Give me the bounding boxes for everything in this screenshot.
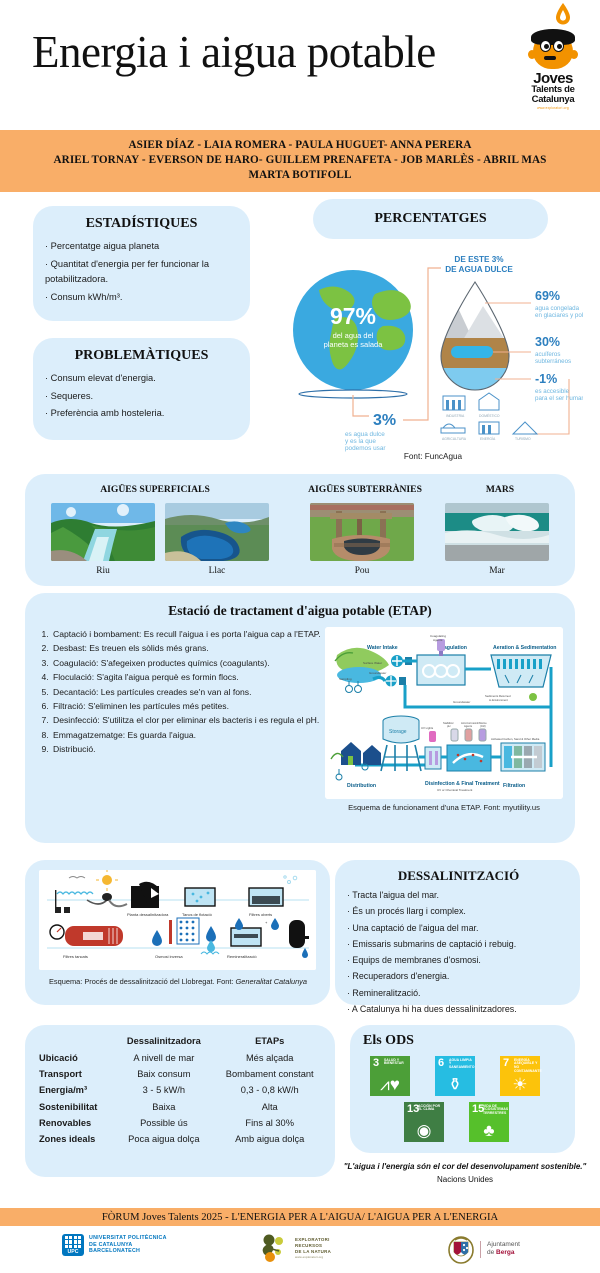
water-sources-panel: AIGÜES SUPERFICIALS AIGÜES SUBTERRÀNIES … bbox=[25, 474, 575, 586]
svg-text:Water Intake: Water Intake bbox=[367, 645, 398, 651]
cell-desal: Poca aigua dolça bbox=[115, 1131, 212, 1147]
upc-line-1: UNIVERSITAT POLITÈCNICA bbox=[89, 1235, 167, 1242]
list-item: Coagulació: S'afegeixen productes químic… bbox=[51, 656, 324, 670]
svg-text:agua congelada: agua congelada bbox=[535, 305, 580, 312]
source-item-sea: Mar bbox=[445, 503, 549, 576]
etap-title: Estació de tractament d'aigua potable (E… bbox=[25, 593, 575, 619]
well-photo bbox=[310, 503, 414, 561]
berga-name: Berga bbox=[496, 1249, 514, 1256]
svg-text:Surface Water: Surface Water bbox=[363, 661, 382, 665]
svg-text:Stabilizer: Stabilizer bbox=[443, 721, 454, 725]
health-heartbeat-icon: ⩘♥ bbox=[370, 1076, 410, 1093]
berga-logo: Ajuntament de Berga bbox=[448, 1234, 520, 1264]
svg-text:UV or Chemical Treatment: UV or Chemical Treatment bbox=[437, 788, 473, 792]
list-item: · Remineralització. bbox=[347, 986, 570, 1000]
cell-desal: Baix consum bbox=[115, 1066, 212, 1082]
row-label: Renovables bbox=[35, 1115, 115, 1131]
svg-text:es agua dulce: es agua dulce bbox=[345, 431, 385, 438]
footer-bar-text: FÒRUM Joves Talents 2025 - L'ENERGIA PER… bbox=[102, 1212, 498, 1223]
upc-line-2: DE CATALUNYA bbox=[89, 1242, 167, 1249]
svg-text:to Environment: to Environment bbox=[489, 698, 508, 702]
cell-etap: Amb aigua dolça bbox=[212, 1131, 327, 1147]
svg-text:Agents: Agents bbox=[464, 724, 473, 728]
climate-eye-icon: ◉ bbox=[404, 1122, 444, 1139]
sources-header-underground: AIGÜES SUBTERRÀNIES bbox=[280, 484, 450, 495]
cell-etap: Fins al 30% bbox=[212, 1115, 327, 1131]
source-item-well: Pou bbox=[310, 503, 414, 576]
svg-text:TURISMO: TURISMO bbox=[515, 437, 531, 441]
cell-etap: Alta bbox=[212, 1099, 327, 1115]
svg-text:Filtres tancats: Filtres tancats bbox=[63, 954, 88, 959]
water-drop-icon bbox=[555, 3, 571, 25]
ods-number: 3 bbox=[373, 1058, 379, 1069]
svg-text:INDUSTRIA: INDUSTRIA bbox=[446, 414, 465, 418]
statistics-title: ESTADÍSTIQUES bbox=[45, 216, 238, 232]
svg-text:del agua del: del agua del bbox=[333, 331, 374, 340]
desalination-panel: DESSALINITZACIÓ · Tracta l'aigua del mar… bbox=[335, 860, 580, 1005]
percentages-source: Font: FuncAgua bbox=[283, 452, 583, 461]
column-header-blank bbox=[35, 1033, 115, 1049]
row-label: Zones ideals bbox=[35, 1131, 115, 1147]
poster-root: Energia i aigua potable Joves Talents de… bbox=[0, 0, 600, 1273]
svg-text:Sampling: Sampling bbox=[339, 677, 352, 681]
svg-text:para el ser humano: para el ser humano bbox=[535, 395, 583, 402]
lake-photo bbox=[165, 503, 269, 561]
svg-text:Filtration: Filtration bbox=[503, 783, 525, 789]
ods-quote-block: "L'aigua i l'energia són el cor del dese… bbox=[340, 1160, 590, 1186]
ods-number: 6 bbox=[438, 1058, 444, 1069]
poster-header: Energia i aigua potable Joves Talents de… bbox=[0, 0, 600, 130]
statistics-panel: ESTADÍSTIQUES · Percentatge aigua planet… bbox=[33, 206, 250, 321]
authors-line-1: ASIER DÍAZ - LAIA ROMERA - PAULA HUGUET-… bbox=[10, 138, 590, 153]
svg-text:subterráneos: subterráneos bbox=[535, 358, 571, 365]
logo-line-3: Catalunya bbox=[522, 95, 584, 105]
table-row: Zones ideals Poca aigua dolça Amb aigua … bbox=[35, 1131, 327, 1147]
column-header-desal: Dessalinitzadora bbox=[115, 1033, 212, 1049]
list-item: · Quantitat d'energia per fer funcionar … bbox=[45, 257, 238, 288]
table-row: Ubicació A nivell de mar Més alçada bbox=[35, 1049, 327, 1065]
svg-text:UV Lights: UV Lights bbox=[421, 726, 434, 730]
exploratori-logo: EXPLORATORI RECURSOS DE LA NATURA www.ex… bbox=[258, 1232, 331, 1264]
ods-goal-3: 3 SALUD Y BIENESTAR ⩘♥ bbox=[370, 1056, 410, 1096]
upc-mark-icon: UPC bbox=[62, 1234, 84, 1256]
cell-desal: 3 - 5 kW/h bbox=[115, 1082, 212, 1098]
joves-talents-logo: Joves Talents de Catalunya www.explorato… bbox=[522, 31, 584, 109]
berga-text: Ajuntament de Berga bbox=[480, 1241, 520, 1258]
river-photo bbox=[51, 503, 155, 561]
svg-text:Storage: Storage bbox=[389, 729, 407, 735]
list-item: · Recuperadors d'energia. bbox=[347, 969, 570, 983]
table-row: Sostenibilitat Baixa Alta bbox=[35, 1099, 327, 1115]
list-item: Decantació: Les partícules creades se'n … bbox=[51, 685, 324, 699]
desalination-caption-prefix: Esquema: Procés de dessalinització del L… bbox=[49, 977, 236, 986]
upc-abbr: UPC bbox=[62, 1249, 84, 1255]
row-label: Ubicació bbox=[35, 1049, 115, 1065]
problems-list: · Consum elevat d'energia. · Sequeres. ·… bbox=[45, 371, 238, 422]
row-label: Energia/m³ bbox=[35, 1082, 115, 1098]
upc-line-3: BARCELONATECH bbox=[89, 1248, 167, 1255]
svg-text:DE ESTE 3%: DE ESTE 3% bbox=[454, 255, 504, 264]
statistics-list: · Percentatge aigua planeta · Quantitat … bbox=[45, 239, 238, 305]
upc-logo: UPC UNIVERSITAT POLITÈCNICA DE CATALUNYA… bbox=[62, 1234, 167, 1256]
footer-logos: UPC UNIVERSITAT POLITÈCNICA DE CATALUNYA… bbox=[0, 1232, 600, 1270]
cell-desal: Baixa bbox=[115, 1099, 212, 1115]
ods-quote-source: Nacions Unides bbox=[437, 1175, 493, 1184]
berga-crest-icon bbox=[448, 1234, 474, 1264]
list-item: · Emissaris submarins de captació i rebu… bbox=[347, 937, 570, 951]
water-glass-icon: ⚱ bbox=[435, 1076, 475, 1093]
svg-text:Activated Carbon, Sand & Other: Activated Carbon, Sand & Other Media bbox=[491, 737, 540, 741]
svg-text:Groundwater: Groundwater bbox=[369, 671, 386, 675]
table-row: Renovables Possible ús Fins al 30% bbox=[35, 1115, 327, 1131]
svg-text:-1%: -1% bbox=[535, 372, 557, 386]
ods-title: Els ODS bbox=[363, 1033, 414, 1049]
svg-text:Disinfection & Final Treatment: Disinfection & Final Treatment bbox=[425, 781, 500, 787]
list-item: · Percentatge aigua planeta bbox=[45, 239, 238, 255]
percentages-panel: PERCENTATGES bbox=[313, 199, 548, 239]
source-caption: Riu bbox=[51, 566, 155, 576]
svg-text:Tancs de flotació: Tancs de flotació bbox=[182, 912, 213, 917]
sea-photo bbox=[445, 503, 549, 561]
desalination-caption-source: Generalitat Catalunya bbox=[236, 977, 308, 986]
list-item: · Consum kWh/m³. bbox=[45, 290, 238, 306]
etap-panel: Estació de tractament d'aigua potable (E… bbox=[25, 593, 575, 843]
ods-label: ENERGÍA ASEQUIBLE Y NO CONTAMINANTE bbox=[514, 1059, 539, 1075]
cell-etap: 0,3 - 0,8 kW/h bbox=[212, 1082, 327, 1098]
svg-text:Aeration & Sedimentation: Aeration & Sedimentation bbox=[493, 645, 556, 651]
authors-line-2: ARIEL TORNAY - EVERSON DE HARO- GUILLEM … bbox=[10, 153, 590, 168]
list-item: · Una captació de l'aigua del mar. bbox=[347, 921, 570, 935]
table-header-row: Dessalinitzadora ETAPs bbox=[35, 1033, 327, 1049]
table-row: Transport Baix consum Bombament constant bbox=[35, 1066, 327, 1082]
svg-text:Osmosi inversa: Osmosi inversa bbox=[155, 954, 183, 959]
svg-text:30%: 30% bbox=[535, 335, 560, 349]
sources-header-seas: MARS bbox=[450, 484, 550, 495]
desalination-list: · Tracta l'aigua del mar. · És un procés… bbox=[347, 888, 570, 1016]
svg-text:DE AGUA DULCE: DE AGUA DULCE bbox=[445, 265, 513, 274]
problems-panel: PROBLEMÀTIQUES · Consum elevat d'energia… bbox=[33, 338, 250, 440]
row-label: Transport bbox=[35, 1066, 115, 1082]
svg-text:DOMÉSTICO: DOMÉSTICO bbox=[479, 413, 500, 418]
exploratori-url: www.exploratori.org bbox=[295, 1255, 331, 1259]
desalination-diagram-image: Planta dessalinitzadora Tancs de flotaci… bbox=[39, 870, 316, 970]
svg-text:y es la que: y es la que bbox=[345, 438, 376, 445]
ods-number: 7 bbox=[503, 1058, 509, 1069]
list-item: · Preferència amb hosteleria. bbox=[45, 406, 238, 422]
desalination-title: DESSALINITZACIÓ bbox=[347, 868, 570, 884]
svg-text:Remineralització: Remineralització bbox=[227, 954, 257, 959]
list-item: Desinfecció: S'utilitza el clor per elim… bbox=[51, 713, 324, 727]
water-drop-illustration bbox=[438, 278, 514, 392]
list-item: · Equips de membranes d'osmosi. bbox=[347, 953, 570, 967]
svg-text:AGRICULTURA: AGRICULTURA bbox=[442, 437, 467, 441]
authors-line-3: MARTA BOTIFOLL bbox=[10, 168, 590, 183]
ods-panel: Els ODS 3 SALUD Y BIENESTAR ⩘♥ 6 AGUA LI… bbox=[350, 1025, 575, 1153]
page-title: Energia i aigua potable bbox=[32, 26, 436, 78]
fresh-percent: 3% bbox=[373, 412, 396, 429]
cell-desal: Possible ús bbox=[115, 1115, 212, 1131]
svg-text:Planta dessalinitzadora: Planta dessalinitzadora bbox=[127, 912, 169, 917]
tree-land-icon: ♣ bbox=[469, 1122, 509, 1139]
ods-label: AGUA LIMPIA Y SANEAMIENTO bbox=[449, 1059, 474, 1071]
source-caption: Llac bbox=[165, 566, 269, 576]
sun-energy-icon: ☀ bbox=[500, 1076, 540, 1093]
cell-etap: Bombament constant bbox=[212, 1066, 327, 1082]
comparison-panel: Dessalinitzadora ETAPs Ubicació A nivell… bbox=[25, 1025, 335, 1177]
etap-caption: Esquema de funcionament d'una ETAP. Font… bbox=[325, 803, 563, 812]
svg-text:Distribution: Distribution bbox=[347, 783, 376, 789]
svg-text:acuíferos: acuíferos bbox=[535, 351, 560, 358]
problems-title: PROBLEMÀTIQUES bbox=[45, 348, 238, 364]
ods-goal-15: 15 VIDA DE ECOSISTEMAS TERRESTRES ♣ bbox=[469, 1102, 509, 1142]
list-item: Floculació: S'agita l'aigua perquè es fo… bbox=[51, 670, 324, 684]
svg-text:Groundwater: Groundwater bbox=[453, 700, 470, 704]
percentages-figure: 97% del agua del planeta es salada 3% es… bbox=[283, 248, 583, 453]
percentages-title: PERCENTATGES bbox=[374, 211, 486, 227]
list-item: · Consum elevat d'energia. bbox=[45, 371, 238, 387]
ods-label: SALUD Y BIENESTAR bbox=[384, 1059, 409, 1067]
row-label: Sostenibilitat bbox=[35, 1099, 115, 1115]
source-item-lake: Llac bbox=[165, 503, 269, 576]
upc-text: UNIVERSITAT POLITÈCNICA DE CATALUNYA BAR… bbox=[89, 1235, 167, 1255]
svg-text:69%: 69% bbox=[535, 289, 560, 303]
comparison-table: Dessalinitzadora ETAPs Ubicació A nivell… bbox=[35, 1033, 327, 1148]
cell-etap: Més alçada bbox=[212, 1049, 327, 1065]
svg-text:podemos usar: podemos usar bbox=[345, 445, 386, 452]
ods-quote-text: "L'aigua i l'energia són el cor del dese… bbox=[344, 1162, 587, 1171]
source-caption: Pou bbox=[310, 566, 414, 576]
ods-grid: 3 SALUD Y BIENESTAR ⩘♥ 6 AGUA LIMPIA Y S… bbox=[368, 1056, 563, 1142]
footer-bar: FÒRUM Joves Talents 2025 - L'ENERGIA PER… bbox=[0, 1208, 600, 1226]
svg-text:Agents: Agents bbox=[433, 638, 443, 642]
list-item: Filtració: S'eliminen les partícules més… bbox=[51, 699, 324, 713]
list-item: · És un procés llarg i complex. bbox=[347, 904, 570, 918]
list-item: · A Catalunya hi ha dues dessalinitzador… bbox=[347, 1002, 570, 1016]
list-item: · Tracta l'aigua del mar. bbox=[347, 888, 570, 902]
exploratori-text: EXPLORATORI RECURSOS DE LA NATURA www.ex… bbox=[295, 1237, 331, 1259]
list-item: Distribució. bbox=[51, 742, 324, 756]
desalination-caption: Esquema: Procés de dessalinització del L… bbox=[33, 977, 323, 986]
column-header-etap: ETAPs bbox=[212, 1033, 327, 1049]
table-row: Energia/m³ 3 - 5 kW/h 0,3 - 0,8 kW/h bbox=[35, 1082, 327, 1098]
etap-steps: Captació i bombament: Es recull l'aigua … bbox=[39, 627, 324, 757]
ods-goal-6: 6 AGUA LIMPIA Y SANEAMIENTO ⚱ bbox=[435, 1056, 475, 1096]
etap-diagram-image: Water Intake Coagulation Aeration & Sedi… bbox=[325, 627, 563, 799]
svg-text:es accesible: es accesible bbox=[535, 388, 570, 395]
authors-bar: ASIER DÍAZ - LAIA ROMERA - PAULA HUGUET-… bbox=[0, 130, 600, 192]
source-item-river: Riu bbox=[51, 503, 155, 576]
svg-text:Filtres oberts: Filtres oberts bbox=[249, 912, 272, 917]
cell-desal: A nivell de mar bbox=[115, 1049, 212, 1065]
mascot-face-icon bbox=[527, 31, 579, 75]
berga-prefix: de bbox=[487, 1249, 496, 1256]
ods-label: ACCIÓN POR EL CLIMA bbox=[418, 1105, 443, 1113]
list-item: Emmagatzematge: Es guarda l'aigua. bbox=[51, 728, 324, 742]
svg-text:(Cl2): (Cl2) bbox=[480, 724, 486, 728]
list-item: Desbast: Es treuen els sòlids més grans. bbox=[51, 641, 324, 655]
source-caption: Mar bbox=[445, 566, 549, 576]
ods-label: VIDA DE ECOSISTEMAS TERRESTRES bbox=[483, 1105, 508, 1117]
ods-goal-7: 7 ENERGÍA ASEQUIBLE Y NO CONTAMINANTE ☀ bbox=[500, 1056, 540, 1096]
svg-text:en glaciares y polos: en glaciares y polos bbox=[535, 312, 583, 319]
desalination-diagram-panel: Planta dessalinitzadora Tancs de flotaci… bbox=[25, 860, 330, 1005]
berga-line-2: de Berga bbox=[487, 1249, 520, 1258]
svg-text:planeta es salada: planeta es salada bbox=[324, 340, 384, 349]
ods-goal-13: 13 ACCIÓN POR EL CLIMA ◉ bbox=[404, 1102, 444, 1142]
berga-line-1: Ajuntament bbox=[487, 1241, 520, 1250]
list-item: Captació i bombament: Es recull l'aigua … bbox=[51, 627, 324, 641]
svg-text:ENERGÍA: ENERGÍA bbox=[480, 437, 496, 441]
exploratori-mark-icon bbox=[258, 1232, 290, 1264]
sources-header-surface: AIGÜES SUPERFICIALS bbox=[55, 484, 255, 495]
logo-url: www.exploratori.org bbox=[522, 106, 584, 110]
globe-percent: 97% bbox=[330, 303, 376, 329]
list-item: · Sequeres. bbox=[45, 389, 238, 405]
